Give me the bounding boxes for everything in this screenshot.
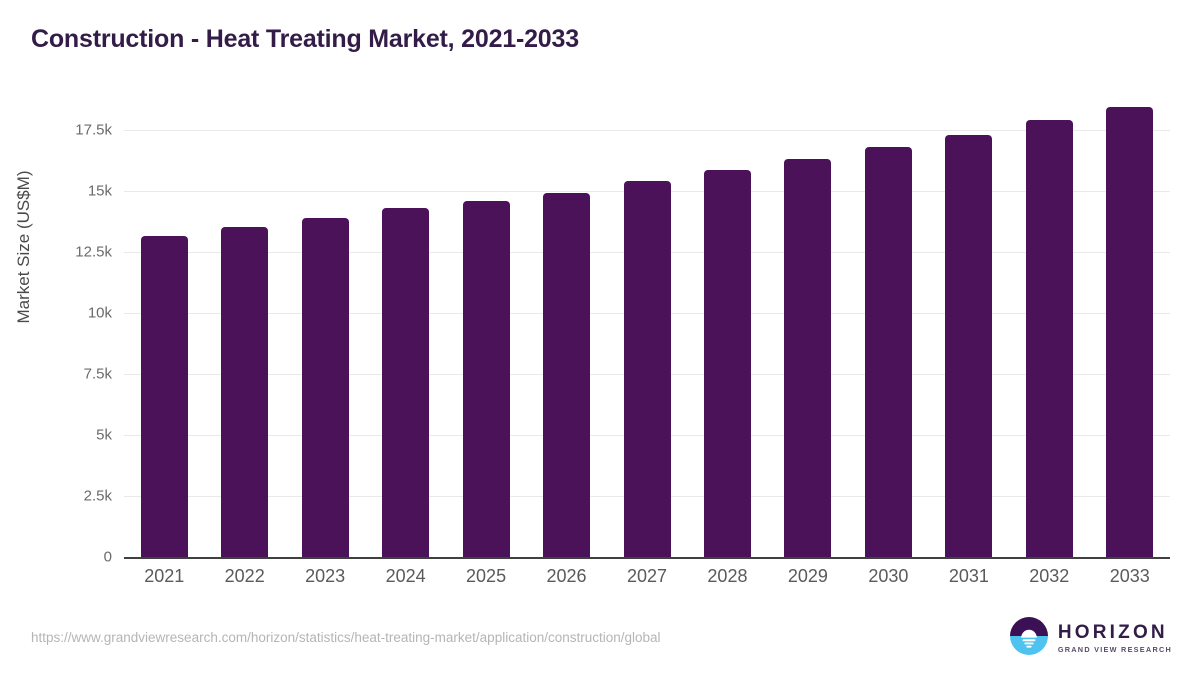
source-url-text: https://www.grandviewresearch.com/horizo… — [31, 630, 661, 645]
x-tick-label: 2023 — [285, 566, 365, 587]
bar-2024[interactable] — [382, 208, 429, 557]
bar-2026[interactable] — [543, 193, 590, 557]
bar-2030[interactable] — [865, 147, 912, 557]
y-axis-title: Market Size (US$M) — [14, 77, 34, 417]
bar-2028[interactable] — [704, 170, 751, 557]
brand-name: HORIZON — [1058, 623, 1172, 642]
x-tick-label: 2026 — [527, 566, 607, 587]
page-title: Construction - Heat Treating Market, 202… — [31, 25, 579, 54]
y-tick-label: 0 — [12, 549, 112, 566]
bar-2023[interactable] — [302, 218, 349, 557]
x-tick-label: 2025 — [446, 566, 526, 587]
x-tick-label: 2029 — [768, 566, 848, 587]
y-tick-label: 5k — [12, 427, 112, 444]
gridline — [124, 130, 1170, 131]
bar-2031[interactable] — [945, 135, 992, 557]
x-tick-label: 2022 — [205, 566, 285, 587]
plot-area — [124, 100, 1170, 557]
bar-2027[interactable] — [624, 181, 671, 557]
x-tick-label: 2027 — [607, 566, 687, 587]
bar-2033[interactable] — [1106, 107, 1153, 557]
x-tick-label: 2032 — [1009, 566, 1089, 587]
x-tick-label: 2031 — [929, 566, 1009, 587]
chart-canvas: Construction - Heat Treating Market, 202… — [0, 0, 1200, 675]
bar-2032[interactable] — [1026, 120, 1073, 557]
x-axis-line — [124, 557, 1170, 559]
bar-2022[interactable] — [221, 227, 268, 557]
bar-2029[interactable] — [784, 159, 831, 557]
x-tick-label: 2024 — [366, 566, 446, 587]
bar-2025[interactable] — [463, 201, 510, 557]
brand-text: HORIZON GRAND VIEW RESEARCH — [1058, 623, 1172, 653]
horizon-circle-logo-icon — [1009, 616, 1049, 661]
x-tick-label: 2021 — [124, 566, 204, 587]
brand-logo: HORIZON GRAND VIEW RESEARCH — [1009, 616, 1172, 661]
x-tick-label: 2028 — [687, 566, 767, 587]
x-tick-label: 2030 — [848, 566, 928, 587]
y-tick-label: 2.5k — [12, 488, 112, 505]
brand-tagline: GRAND VIEW RESEARCH — [1058, 646, 1172, 653]
bar-2021[interactable] — [141, 236, 188, 557]
x-tick-label: 2033 — [1090, 566, 1170, 587]
